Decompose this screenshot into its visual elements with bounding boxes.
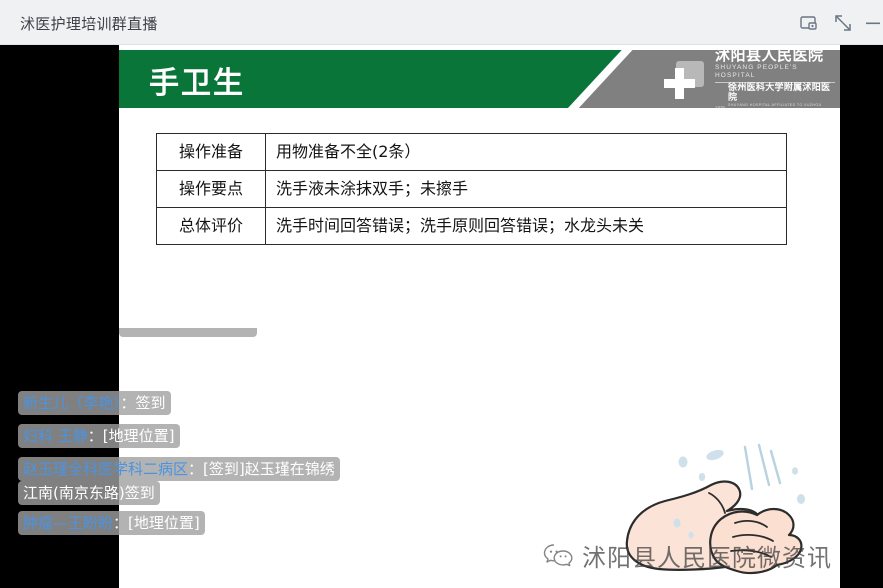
hospital-name-cn: 沭阳县人民医院 [715, 50, 835, 64]
watermark-text: 沭阳县人民医院微资讯 [582, 538, 832, 573]
minimize-icon[interactable] [862, 12, 883, 34]
chat-body: 签到 [136, 394, 166, 412]
chat-message-partial [119, 328, 257, 337]
chat-sender: 妇科 王静 [23, 427, 88, 445]
chat-colon: ： [88, 427, 103, 445]
hospital-name-en: SHUYANG PEOPLE'S HOSPITAL [715, 64, 835, 83]
row-value: 洗手时间回答错误；洗手原则回答错误；水龙头未关 [266, 208, 787, 245]
hospital-founding-year: 1936 [715, 105, 725, 108]
chat-message: 赵玉瑾全科医学科二病区：[签到]赵玉瑾在锦绣江南(南京东路)签到 [18, 457, 346, 506]
chat-colon: ： [188, 460, 203, 478]
row-value: 用物准备不全(2条） [266, 134, 787, 171]
wechat-watermark: 沭阳县人民医院微资讯 [543, 538, 832, 573]
hospital-logo: 沭阳县人民医院 SHUYANG PEOPLE'S HOSPITAL 1936 徐… [663, 56, 835, 104]
live-stream-window: 沭医护理培训群直播 [0, 0, 883, 588]
video-stage: 手卫生 沭阳县人民医院 SHUYANG PEOPLE'S HOSPITAL 19… [0, 45, 883, 588]
expand-icon[interactable] [832, 12, 854, 34]
chat-colon: ： [113, 514, 128, 532]
chat-message: 新生儿（李艳）：签到 [18, 391, 171, 415]
chat-body: [地理位置] [103, 427, 175, 445]
row-label: 总体评价 [157, 208, 266, 245]
hospital-affiliation-en: SHUYANG HOSPITAL AFFILIATED TO XUZHOU ME… [728, 103, 835, 108]
evaluation-table: 操作准备 用物准备不全(2条） 操作要点 洗手液未涂抹双手；未擦手 总体评价 洗… [156, 133, 787, 245]
wechat-icon [543, 543, 573, 569]
chat-sender: 肿瘤—王盼盼 [23, 514, 113, 532]
chat-colon: ： [121, 394, 136, 412]
slide-banner: 手卫生 沭阳县人民医院 SHUYANG PEOPLE'S HOSPITAL 19… [119, 50, 840, 108]
row-value: 洗手液未涂抹双手；未擦手 [266, 171, 787, 208]
presentation-slide: 手卫生 沭阳县人民医院 SHUYANG PEOPLE'S HOSPITAL 19… [119, 45, 840, 588]
chat-message: 妇科 王静：[地理位置] [18, 424, 180, 448]
hospital-logo-text: 沭阳县人民医院 SHUYANG PEOPLE'S HOSPITAL 1936 徐… [715, 50, 835, 108]
table-row: 操作要点 洗手液未涂抹双手；未擦手 [157, 171, 787, 208]
table-row: 总体评价 洗手时间回答错误；洗手原则回答错误；水龙头未关 [157, 208, 787, 245]
chat-sender: 赵玉瑾全科医学科二病区 [23, 460, 188, 478]
table-row: 操作准备 用物准备不全(2条） [157, 134, 787, 171]
window-titlebar: 沭医护理培训群直播 [0, 0, 883, 45]
row-label: 操作要点 [157, 171, 266, 208]
screen-share-icon[interactable] [798, 12, 820, 34]
window-title: 沭医护理培训群直播 [20, 13, 158, 34]
chat-sender: 新生儿（李艳） [23, 394, 121, 412]
chat-message: 肿瘤—王盼盼：[地理位置] [18, 511, 205, 535]
hospital-cross-icon [663, 59, 709, 101]
slide-title: 手卫生 [149, 58, 245, 102]
row-label: 操作准备 [157, 134, 266, 171]
chat-body: [地理位置] [128, 514, 200, 532]
hospital-sub-row: 1936 徐州医科大学附属沭阳医院 SHUYANG HOSPITAL AFFIL… [715, 84, 835, 108]
hospital-affiliation-cn: 徐州医科大学附属沭阳医院 [728, 84, 835, 104]
